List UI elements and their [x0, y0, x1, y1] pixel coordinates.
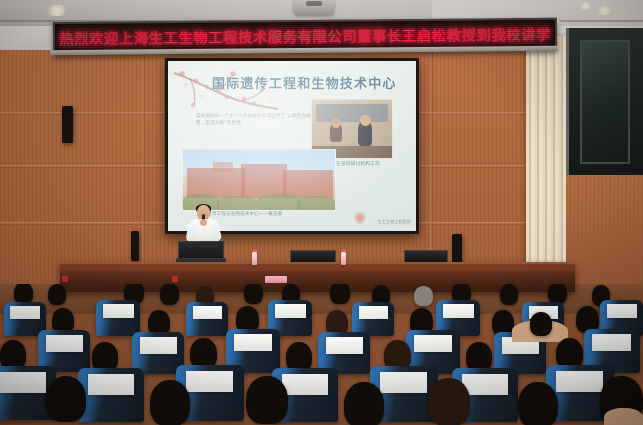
control-booth-window: [580, 40, 630, 164]
seat-headrest: [359, 306, 388, 319]
seat-headrest: [0, 372, 46, 393]
seat-headrest: [88, 374, 134, 395]
wall-speaker-icon: [62, 106, 73, 143]
audience-head: [150, 380, 190, 425]
led-banner-text: 热烈欢迎上海生工生物工程技术服务有限公司董事长王启松教授到我校讲学: [59, 24, 551, 49]
ceiling-downlight-icon: [596, 6, 613, 15]
seat-headrest: [556, 371, 603, 392]
audience-head: [428, 378, 470, 425]
audience-head: [518, 382, 558, 425]
water-bottle-cap: [341, 249, 346, 252]
audience-head: [548, 284, 567, 304]
audience-shoulder: [604, 408, 643, 425]
water-bottle-cap: [252, 249, 257, 252]
seat-headrest: [380, 372, 427, 393]
seat-headrest: [234, 334, 272, 351]
slide-logo-text: 生工生物工程股份: [351, 219, 411, 225]
water-bottle: [341, 252, 346, 265]
presenter-hand: [200, 219, 207, 226]
audience-head: [160, 284, 179, 305]
audience-head: [414, 286, 433, 306]
ceiling-projector-icon: [294, 0, 334, 15]
seat-headrest: [10, 306, 40, 319]
seat-headrest: [282, 374, 328, 395]
seat-headrest: [140, 337, 177, 354]
slide-title: 国际遗传工程和生物技术中心: [212, 73, 412, 92]
pink-folder: [265, 276, 287, 283]
audience-head: [330, 284, 350, 304]
seat-headrest: [443, 304, 474, 318]
seat-headrest: [103, 304, 134, 318]
wall-vertical-seam: [142, 50, 145, 288]
slide-photo-building: [182, 149, 336, 211]
projector-lens-icon: [306, 1, 322, 6]
auditorium-lecture-photo: 热烈欢迎上海生工生物工程技术服务有限公司董事长王启松教授到我校讲学: [0, 0, 643, 425]
ceiling-downlight-icon: [578, 2, 593, 10]
wall-speaker-icon: [131, 231, 139, 261]
audience-head: [246, 376, 288, 424]
booth-lower-wall: [566, 175, 643, 290]
audience-head: [244, 284, 263, 304]
seat-headrest: [462, 374, 508, 395]
seat-headrest: [607, 304, 637, 318]
ceiling-downlight-icon: [46, 5, 68, 16]
seat-headrest: [193, 306, 222, 319]
red-cup: [172, 276, 178, 282]
seat-headrest: [592, 334, 631, 351]
seat-headrest: [186, 371, 233, 392]
slide-body-text: 其外观的每一个文一个的形态体呈现运用了“以颗粒为统计量、定成大群”的世理。: [196, 113, 316, 128]
seat-headrest: [326, 337, 363, 354]
audience-head: [500, 284, 518, 305]
seat-headrest: [414, 335, 452, 352]
audience-seating: [0, 284, 643, 425]
seat-headrest: [275, 304, 306, 318]
water-bottle: [252, 252, 257, 265]
audience-head: [48, 284, 66, 305]
seat-headrest: [46, 335, 83, 352]
audience-head: [14, 284, 33, 304]
audience-head: [344, 382, 384, 425]
audience-head: [46, 376, 86, 422]
audience-head: [530, 312, 552, 336]
red-cup: [62, 276, 68, 282]
